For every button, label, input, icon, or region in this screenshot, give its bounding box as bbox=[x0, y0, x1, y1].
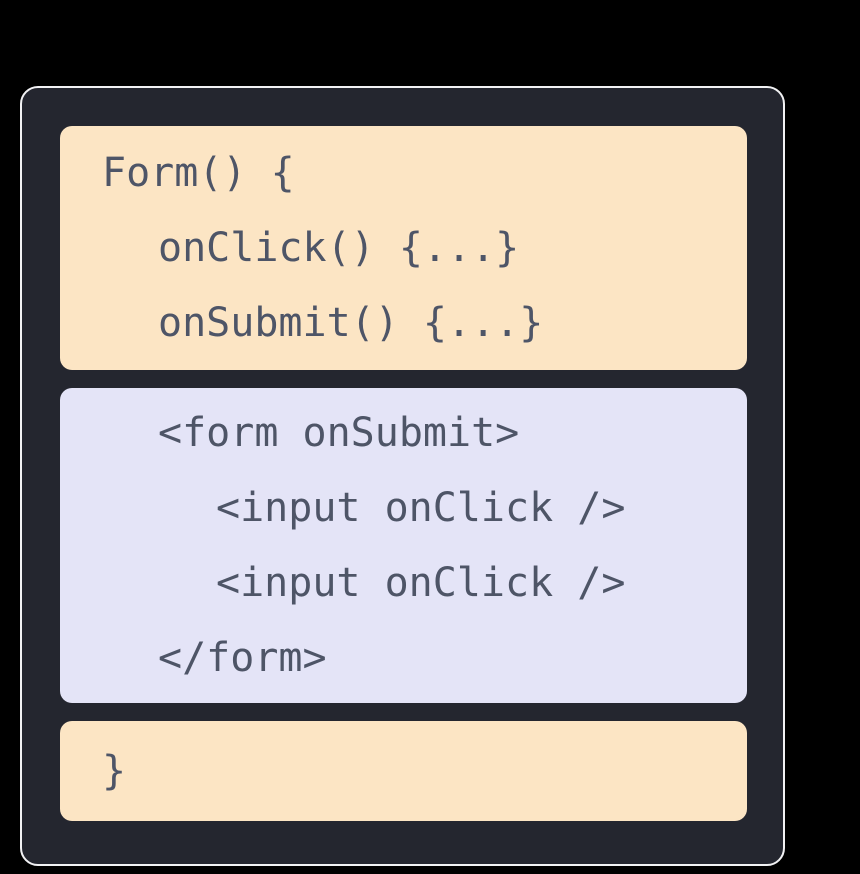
code-line: </form> bbox=[60, 621, 747, 696]
code-line: onSubmit() {...} bbox=[60, 286, 747, 361]
code-line: <input onClick /> bbox=[60, 471, 747, 546]
screenshot-canvas: Form() { onClick() {...} onSubmit() {...… bbox=[0, 0, 860, 874]
code-line: } bbox=[60, 734, 747, 809]
code-section-component-bottom: } bbox=[60, 721, 747, 821]
code-section-markup: <form onSubmit> <input onClick /> <input… bbox=[60, 388, 747, 703]
code-line: <form onSubmit> bbox=[60, 396, 747, 471]
code-section-component-top: Form() { onClick() {...} onSubmit() {...… bbox=[60, 126, 747, 370]
code-line: <input onClick /> bbox=[60, 546, 747, 621]
code-line: Form() { bbox=[60, 136, 747, 211]
code-line: onClick() {...} bbox=[60, 211, 747, 286]
code-block-container: Form() { onClick() {...} onSubmit() {...… bbox=[20, 86, 785, 866]
